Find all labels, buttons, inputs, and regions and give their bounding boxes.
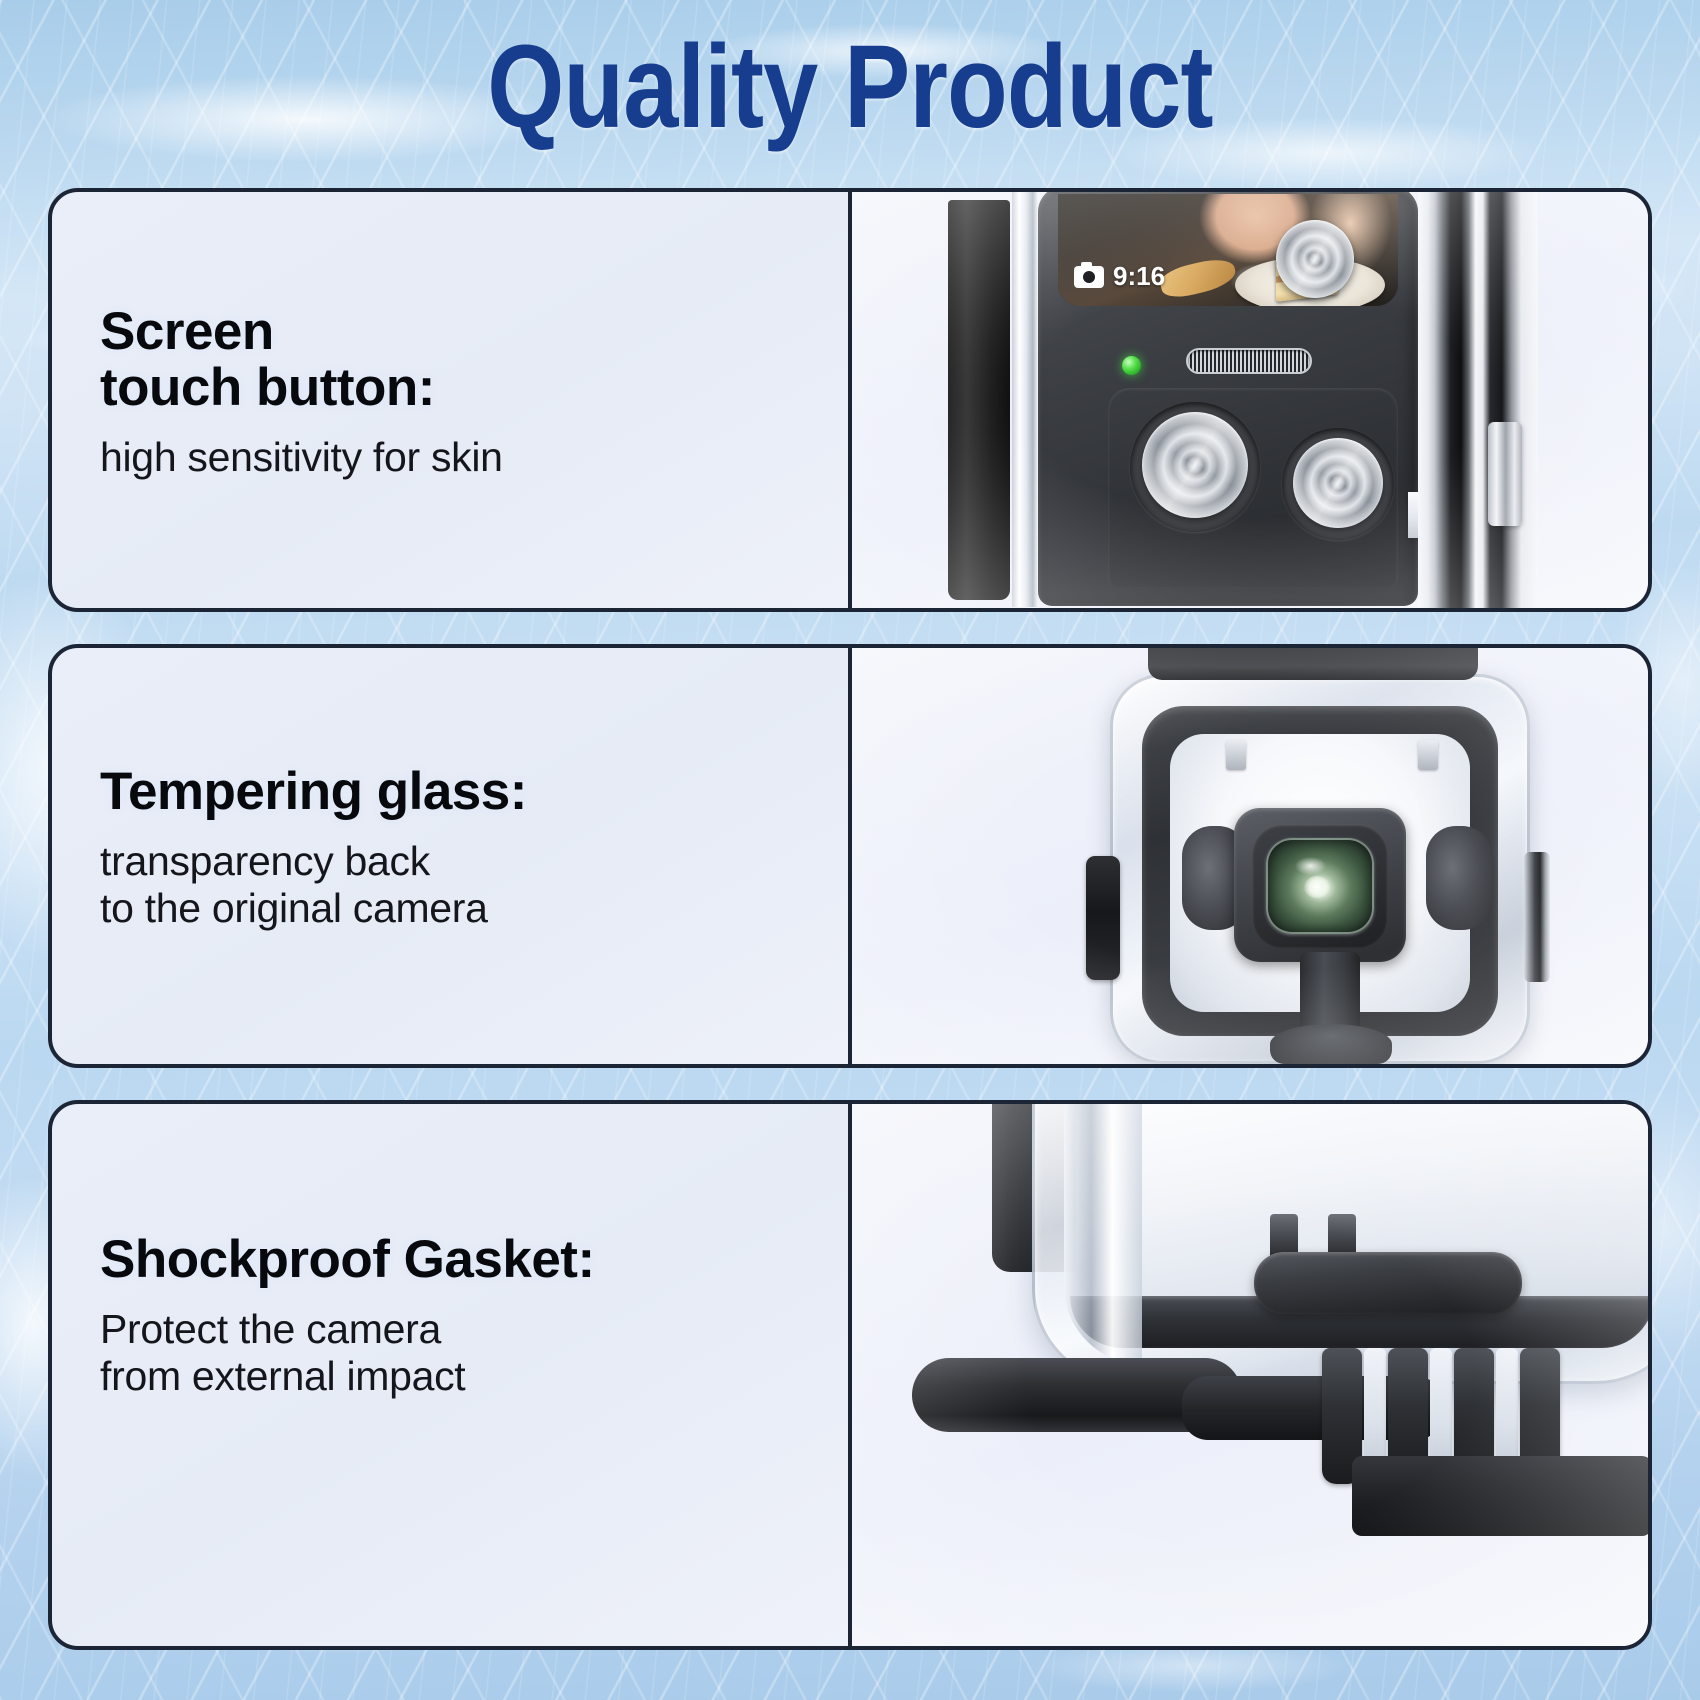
panel-text-block: Tempering glass: transparency back to th… bbox=[52, 648, 852, 1064]
mount-base-block bbox=[1352, 1456, 1648, 1536]
case-clip-right bbox=[1418, 740, 1438, 770]
panel-text-block: Screen touch button: high sensitivity fo… bbox=[52, 192, 852, 608]
screen-corner-dial bbox=[1276, 220, 1354, 298]
panel-text-block: Shockproof Gasket: Protect the camera fr… bbox=[52, 1104, 852, 1646]
metal-dial-secondary bbox=[1293, 438, 1383, 528]
panel-media-camera-back: 9:16 bbox=[852, 192, 1648, 608]
case-right-edge bbox=[1418, 192, 1538, 608]
panel-subtext: transparency back to the original camera bbox=[100, 838, 848, 931]
feature-panel-screen-touch-button: Screen touch button: high sensitivity fo… bbox=[48, 188, 1652, 612]
camera-touch-screen: 9:16 bbox=[1058, 194, 1398, 306]
panel-heading: Tempering glass: bbox=[100, 764, 848, 820]
camera-icon bbox=[1074, 266, 1104, 288]
page-title: Quality Product bbox=[136, 28, 1564, 146]
case-glass-curve bbox=[1064, 1104, 1142, 1364]
case-hinge bbox=[1488, 422, 1522, 526]
feature-panel-tempering-glass: Tempering glass: transparency back to th… bbox=[48, 644, 1652, 1068]
case-side-button-left bbox=[1086, 856, 1120, 980]
case-top-bar bbox=[1148, 648, 1478, 680]
screen-osd: 9:16 bbox=[1074, 261, 1165, 292]
lens-highlight bbox=[1304, 876, 1330, 898]
panel-subtext: Protect the camera from external impact bbox=[100, 1306, 848, 1399]
gimbal-base bbox=[1270, 1024, 1392, 1064]
feature-panel-shockproof-gasket: Shockproof Gasket: Protect the camera fr… bbox=[48, 1100, 1652, 1650]
panel-media-gasket-mount bbox=[852, 1104, 1648, 1646]
metal-dial-primary bbox=[1142, 412, 1248, 518]
status-led-indicator bbox=[1122, 356, 1141, 375]
panel-heading: Shockproof Gasket: bbox=[100, 1232, 848, 1288]
panel-subtext: high sensitivity for skin bbox=[100, 434, 848, 481]
gimbal-arm-right bbox=[1426, 826, 1492, 930]
case-clip-left bbox=[1226, 740, 1246, 770]
shockproof-rubber-gasket bbox=[1254, 1252, 1522, 1314]
speaker-grille bbox=[1186, 348, 1312, 374]
panel-heading: Screen touch button: bbox=[100, 304, 848, 416]
panel-media-clear-case-lens bbox=[852, 648, 1648, 1064]
screen-time-label: 9:16 bbox=[1113, 261, 1165, 292]
case-clear-edge-strip bbox=[1012, 192, 1038, 607]
case-side-edge-right bbox=[1524, 852, 1550, 982]
camera-side-rail bbox=[948, 200, 1010, 600]
